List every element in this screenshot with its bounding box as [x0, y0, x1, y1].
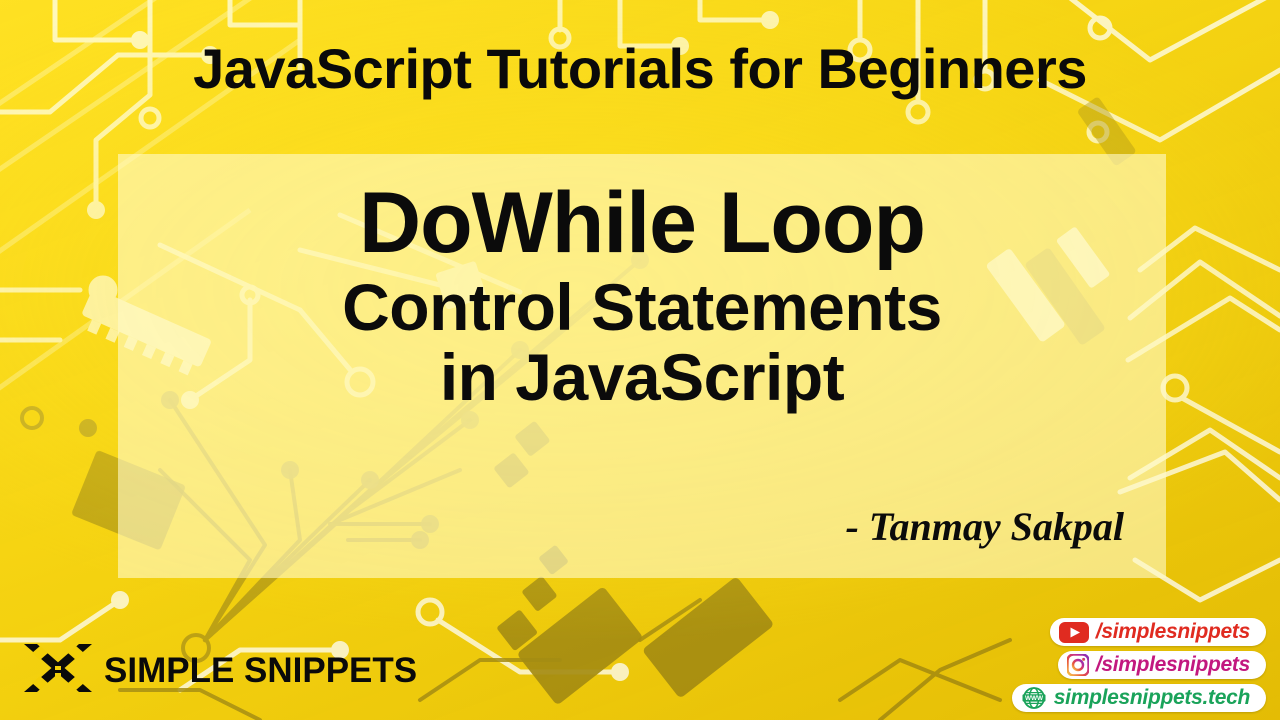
video-thumbnail: JavaScript Tutorials for Beginners DoWhi…	[0, 0, 1280, 720]
badge-instagram-label: /simplesnippets	[1096, 653, 1250, 677]
card-subheading-line-1: Control Statements	[342, 274, 942, 340]
youtube-icon	[1059, 622, 1089, 643]
svg-text:WWW: WWW	[1025, 695, 1044, 702]
badge-youtube-label: /simplesnippets	[1096, 620, 1250, 644]
card-heading: DoWhile Loop	[359, 180, 925, 266]
brand-logo[interactable]: SIMPLE SNIPPETS	[20, 640, 417, 702]
instagram-icon	[1067, 654, 1089, 676]
author-credit: - Tanmay Sakpal	[845, 503, 1124, 550]
badge-website[interactable]: WWW simplesnippets.tech	[1012, 684, 1266, 712]
badge-youtube[interactable]: /simplesnippets	[1050, 618, 1266, 646]
card-subheading-line-2: in JavaScript	[440, 344, 844, 410]
badge-instagram[interactable]: /simplesnippets	[1058, 651, 1266, 679]
www-globe-icon: WWW	[1021, 687, 1047, 709]
brand-name: SIMPLE SNIPPETS	[104, 651, 417, 691]
x-cross-logo-icon	[20, 640, 96, 702]
badge-website-label: simplesnippets.tech	[1054, 686, 1250, 710]
banner-title: JavaScript Tutorials for Beginners	[0, 36, 1280, 101]
social-badges: /simplesnippets /simplesnippets	[1012, 618, 1266, 712]
title-card: DoWhile Loop Control Statements in JavaS…	[118, 154, 1166, 578]
